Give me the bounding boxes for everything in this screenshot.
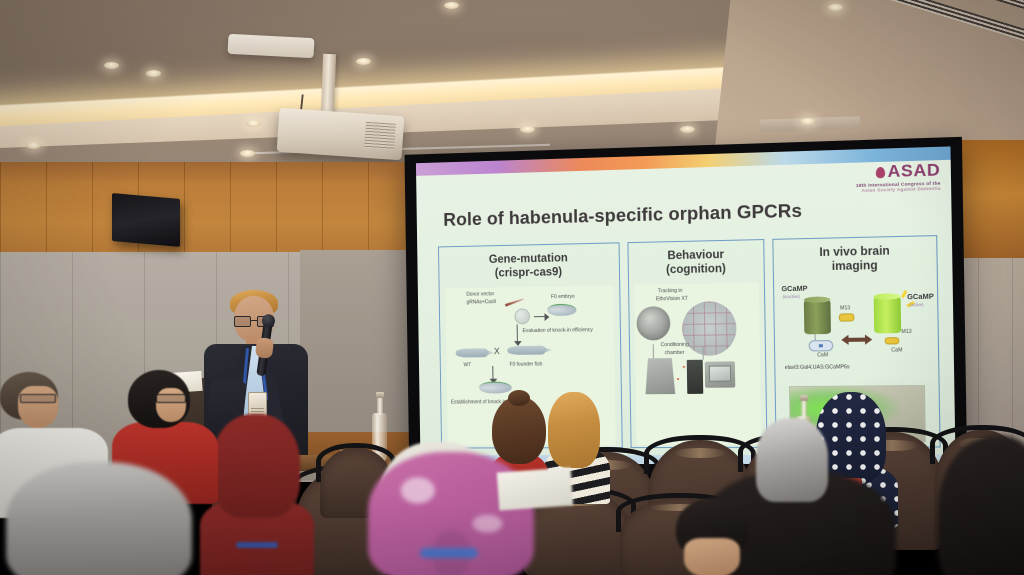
arrow-icon — [517, 324, 519, 342]
audience-member-pink-hijab — [368, 452, 536, 575]
glasses-icon — [20, 394, 56, 403]
panel-2-artwork: Tracking in EthoVision XT Conditioning c… — [629, 278, 767, 447]
label-m13-right: M13 — [901, 329, 911, 336]
tank-photo-icon — [636, 306, 670, 340]
label-knockin-efficiency: Evaluation of knock-in efficiency — [522, 327, 610, 335]
slide-title: Role of habenula-specific orphan GPCRs — [443, 200, 802, 231]
downlight-icon — [246, 120, 261, 127]
grey-hair — [6, 462, 192, 575]
label-f0-embryo: F0 embryo — [551, 294, 575, 301]
face — [684, 538, 740, 575]
downlight-icon — [800, 118, 815, 125]
label-ethovision: EthoVision XT — [656, 296, 688, 303]
equilibrium-arrow-icon — [848, 338, 867, 342]
label-m13-left: M13 — [840, 305, 850, 312]
downlight-icon — [520, 126, 535, 133]
blonde-hair — [548, 392, 600, 468]
downlight-icon — [26, 142, 41, 149]
label-gcamp-inactive-state: (inactive) — [783, 294, 800, 299]
marker-dot — [683, 366, 685, 368]
slide-panel-behaviour: Behaviour (cognition) Tracking in EthoVi… — [627, 239, 767, 448]
panel-3-title-line2: imaging — [774, 258, 937, 276]
downlight-icon — [356, 58, 371, 65]
egg-icon — [514, 308, 530, 324]
dark-hair — [938, 436, 1024, 575]
downlight-icon — [680, 126, 695, 133]
m13-domain-icon — [839, 313, 855, 321]
panel-2-title-line2: (cognition) — [629, 261, 764, 278]
asad-wordmark: ASAD — [887, 160, 940, 181]
cable — [815, 334, 816, 340]
embryo-icon — [547, 304, 576, 316]
downlight-icon — [146, 70, 161, 77]
asad-logo: ASAD 18th International Congress of the … — [785, 161, 940, 195]
label-f0-founder: F0 founder fish — [510, 361, 543, 368]
lanyard-strap — [420, 548, 478, 558]
glasses-icon — [156, 394, 186, 403]
gcamp-barrel-active-icon — [874, 296, 902, 333]
cable — [653, 344, 654, 358]
asad-wordmark-row: ASAD — [785, 161, 940, 183]
lanyard-strap — [236, 542, 278, 548]
panel-1-title-line2: (crispr-cas9) — [439, 264, 619, 281]
label-gcamp-active: GCaMP — [907, 292, 934, 302]
arrow-icon — [492, 366, 494, 380]
label-wt: WT — [464, 362, 472, 368]
label-conditioning: Conditioning — [661, 342, 689, 349]
audience-member-grey-hair — [6, 462, 196, 575]
conference-room-photo: ASAD 18th International Congress of the … — [0, 0, 1024, 575]
downlight-icon — [828, 4, 843, 11]
audience-member-grey-hair-mid — [756, 418, 830, 500]
injection-needle-icon — [505, 298, 524, 307]
cam-domain-icon — [809, 340, 834, 351]
audience-member-child — [676, 498, 750, 575]
papers-on-seat — [497, 467, 573, 510]
label-gcamp-active-state: (active) — [909, 302, 923, 307]
monitor-icon — [705, 361, 736, 387]
label-cam-left: CaM — [817, 352, 828, 359]
m13-domain-icon — [885, 337, 900, 344]
downlight-icon — [104, 62, 119, 69]
face — [18, 386, 58, 428]
tracking-grid-icon — [682, 301, 737, 356]
audience-member-dark-hair-right — [938, 436, 1024, 575]
label-donor-vector: Donor vector — [466, 291, 494, 298]
cross-symbol: X — [494, 346, 500, 356]
location-pin-icon — [876, 167, 886, 178]
label-tracking-in: Tracking in — [658, 288, 683, 295]
wt-fish-icon — [456, 348, 489, 357]
label-gcamp-inactive: GCaMP — [781, 284, 807, 294]
maroon-hijab — [212, 414, 300, 518]
hair-bun — [508, 390, 530, 406]
label-chamber: chamber — [665, 350, 685, 357]
air-diffuser-icon — [867, 0, 1024, 55]
conditioning-chamber-icon — [645, 358, 675, 394]
label-grnas-cas9: gRNAs+Cas9 — [466, 299, 496, 306]
f0-founder-fish-icon — [507, 346, 546, 355]
gcamp-barrel-inactive-icon — [804, 299, 831, 334]
presenter-hand-right — [255, 337, 274, 359]
wall-speaker — [112, 193, 180, 247]
computer-tower-icon — [687, 360, 704, 394]
arrow-icon — [534, 316, 546, 318]
label-elavl3-line: elavl3:Gal4;UAS:GCaMP6s — [785, 364, 850, 371]
ceiling-projector — [277, 108, 405, 161]
downlight-icon — [240, 150, 255, 157]
label-cam-right: CaM — [891, 347, 902, 354]
downlight-icon — [444, 2, 459, 9]
grey-hair — [756, 418, 828, 502]
cable — [702, 346, 703, 360]
marker-dot — [677, 378, 679, 380]
